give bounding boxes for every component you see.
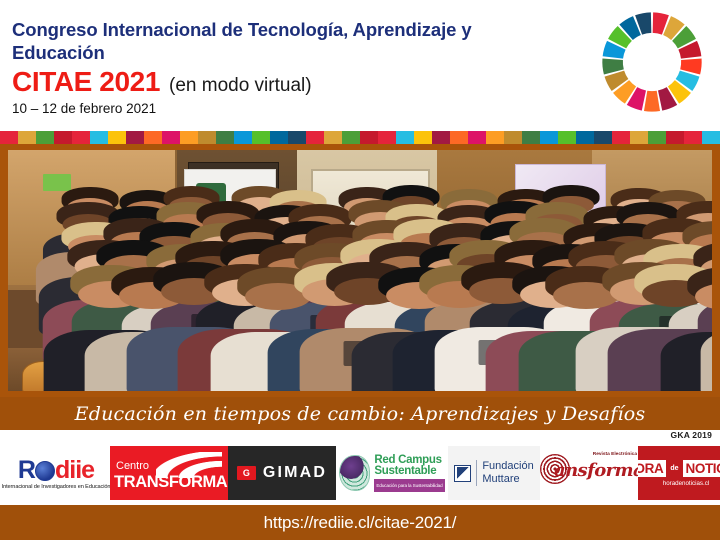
stripe-swatch-17 bbox=[306, 131, 324, 144]
stripe-swatch-11 bbox=[198, 131, 216, 144]
hora-part-2: de bbox=[669, 465, 679, 472]
stripe-swatch-20 bbox=[360, 131, 378, 144]
muttare-text-block: Fundación Muttare bbox=[482, 460, 533, 486]
gka-credit: GKA 2019 bbox=[671, 430, 712, 440]
divider bbox=[476, 460, 477, 486]
stripe-swatch-28 bbox=[504, 131, 522, 144]
revista-wordmark: ansformar bbox=[554, 460, 638, 481]
logo-revista-transformar[interactable]: Revista Electrónica ansformar bbox=[540, 446, 638, 500]
poster-header: Congreso Internacional de Tecnología, Ap… bbox=[0, 0, 720, 131]
acronym-row: CITAE 2021 (en modo virtual) bbox=[12, 67, 572, 97]
attendee bbox=[689, 279, 712, 391]
stripe-swatch-13 bbox=[234, 131, 252, 144]
title-line-2: Educación bbox=[12, 41, 572, 64]
stripe-swatch-19 bbox=[342, 131, 360, 144]
gimad-wordmark: GIMAD bbox=[263, 464, 327, 482]
hora-row: HORA de NOTICIAS bbox=[638, 460, 720, 477]
rediie-letter-r: R bbox=[18, 456, 35, 484]
stripe-swatch-3 bbox=[54, 131, 72, 144]
stripe-swatch-33 bbox=[594, 131, 612, 144]
stripe-swatch-2 bbox=[36, 131, 54, 144]
rediie-letters: diie bbox=[55, 456, 94, 484]
stripe-swatch-21 bbox=[378, 131, 396, 144]
gimad-badge: G bbox=[237, 466, 256, 480]
event-slogan-banner: Educación en tiempos de cambio: Aprendiz… bbox=[0, 397, 720, 430]
stripe-swatch-37 bbox=[666, 131, 684, 144]
stripe-swatch-32 bbox=[576, 131, 594, 144]
sdg-wheel-icon bbox=[598, 8, 706, 116]
stripe-swatch-25 bbox=[450, 131, 468, 144]
photo-band bbox=[0, 144, 720, 397]
hora-url: horadenoticias.cl bbox=[663, 480, 709, 487]
event-url[interactable]: https://rediie.cl/citae-2021/ bbox=[264, 513, 457, 533]
event-dates: 10 – 12 de febrero 2021 bbox=[12, 101, 572, 117]
rcs-line-2: Sustentable bbox=[374, 466, 444, 477]
footer-bar: https://rediie.cl/citae-2021/ bbox=[0, 505, 720, 540]
stripe-swatch-26 bbox=[468, 131, 486, 144]
logo-hora-de-noticias[interactable]: HORA de NOTICIAS horadenoticias.cl bbox=[638, 446, 720, 500]
stripe-swatch-18 bbox=[324, 131, 342, 144]
page-title: Congreso Internacional de Tecnología, Ap… bbox=[12, 18, 572, 64]
stripe-swatch-12 bbox=[216, 131, 234, 144]
header-text-block: Congreso Internacional de Tecnología, Ap… bbox=[12, 18, 572, 117]
muttare-line-2: Muttare bbox=[482, 473, 533, 486]
stripe-swatch-4 bbox=[72, 131, 90, 144]
muttare-line-1: Fundación bbox=[482, 460, 533, 473]
sponsor-logo-strip: Rdiie Internacional de Investigadores en… bbox=[0, 441, 720, 505]
globe-icon bbox=[35, 461, 55, 481]
stripe-swatch-0 bbox=[0, 131, 18, 144]
logo-rediie[interactable]: Rdiie Internacional de Investigadores en… bbox=[2, 446, 110, 500]
hora-part-3: NOTICIAS bbox=[683, 460, 720, 477]
stripe-swatch-16 bbox=[288, 131, 306, 144]
stripe-swatch-6 bbox=[108, 131, 126, 144]
event-acronym: CITAE 2021 bbox=[12, 67, 160, 97]
stripe-swatch-9 bbox=[162, 131, 180, 144]
stripe-swatch-36 bbox=[648, 131, 666, 144]
rediie-wordmark: Rdiie bbox=[18, 457, 94, 483]
stripe-swatch-38 bbox=[684, 131, 702, 144]
stripe-swatch-39 bbox=[702, 131, 720, 144]
stripe-swatch-35 bbox=[630, 131, 648, 144]
logo-centro-transformar[interactable]: Centro TRANSFORMAR® bbox=[110, 446, 228, 500]
centro-transformar-line-2: TRANSFORMAR® bbox=[114, 473, 228, 492]
event-mode: (en modo virtual) bbox=[169, 75, 312, 97]
rcs-line-1: Red Campus bbox=[374, 455, 444, 466]
stripe-swatch-34 bbox=[612, 131, 630, 144]
conference-poster: Congreso Internacional de Tecnología, Ap… bbox=[0, 0, 720, 540]
stripe-swatch-10 bbox=[180, 131, 198, 144]
rcs-line-3: Educación para la Sustentabilidad bbox=[374, 479, 444, 492]
centro-transformar-line-1: Centro bbox=[116, 460, 149, 472]
hora-part-1: HORA bbox=[638, 460, 666, 477]
crowd-of-attendees bbox=[8, 150, 712, 391]
centro-transformar-inner: Centro TRANSFORMAR® bbox=[110, 446, 228, 500]
group-photo bbox=[8, 150, 712, 391]
title-line-1: Congreso Internacional de Tecnología, Ap… bbox=[12, 18, 572, 41]
rediie-subtitle: Internacional de Investigadores en Educa… bbox=[2, 484, 110, 490]
stripe-swatch-8 bbox=[144, 131, 162, 144]
rcs-text-block: Red Campus Sustentable Educación para la… bbox=[374, 455, 444, 492]
sdg-color-stripe bbox=[0, 131, 720, 144]
sdg-wheel-segment-8 bbox=[644, 91, 660, 112]
logo-gimad[interactable]: G GIMAD bbox=[228, 446, 336, 500]
revista-kicker: Revista Electrónica bbox=[593, 452, 637, 457]
logo-red-campus-sustentable[interactable]: Red Campus Sustentable Educación para la… bbox=[336, 446, 448, 500]
stripe-swatch-23 bbox=[414, 131, 432, 144]
stripe-swatch-7 bbox=[126, 131, 144, 144]
stripe-swatch-5 bbox=[90, 131, 108, 144]
stripe-swatch-1 bbox=[18, 131, 36, 144]
stripe-swatch-27 bbox=[486, 131, 504, 144]
stripe-swatch-31 bbox=[558, 131, 576, 144]
photo-scene bbox=[8, 150, 712, 391]
stripe-swatch-22 bbox=[396, 131, 414, 144]
stripe-swatch-29 bbox=[522, 131, 540, 144]
stripe-swatch-14 bbox=[252, 131, 270, 144]
attendee-body bbox=[700, 328, 712, 391]
muttare-mark-icon bbox=[454, 465, 471, 482]
event-slogan: Educación en tiempos de cambio: Aprendiz… bbox=[75, 403, 646, 425]
logo-fundacion-muttare[interactable]: Fundación Muttare bbox=[448, 446, 540, 500]
stripe-swatch-24 bbox=[432, 131, 450, 144]
stripe-swatch-15 bbox=[270, 131, 288, 144]
leaf-mark-icon bbox=[339, 455, 370, 491]
stripe-swatch-30 bbox=[540, 131, 558, 144]
